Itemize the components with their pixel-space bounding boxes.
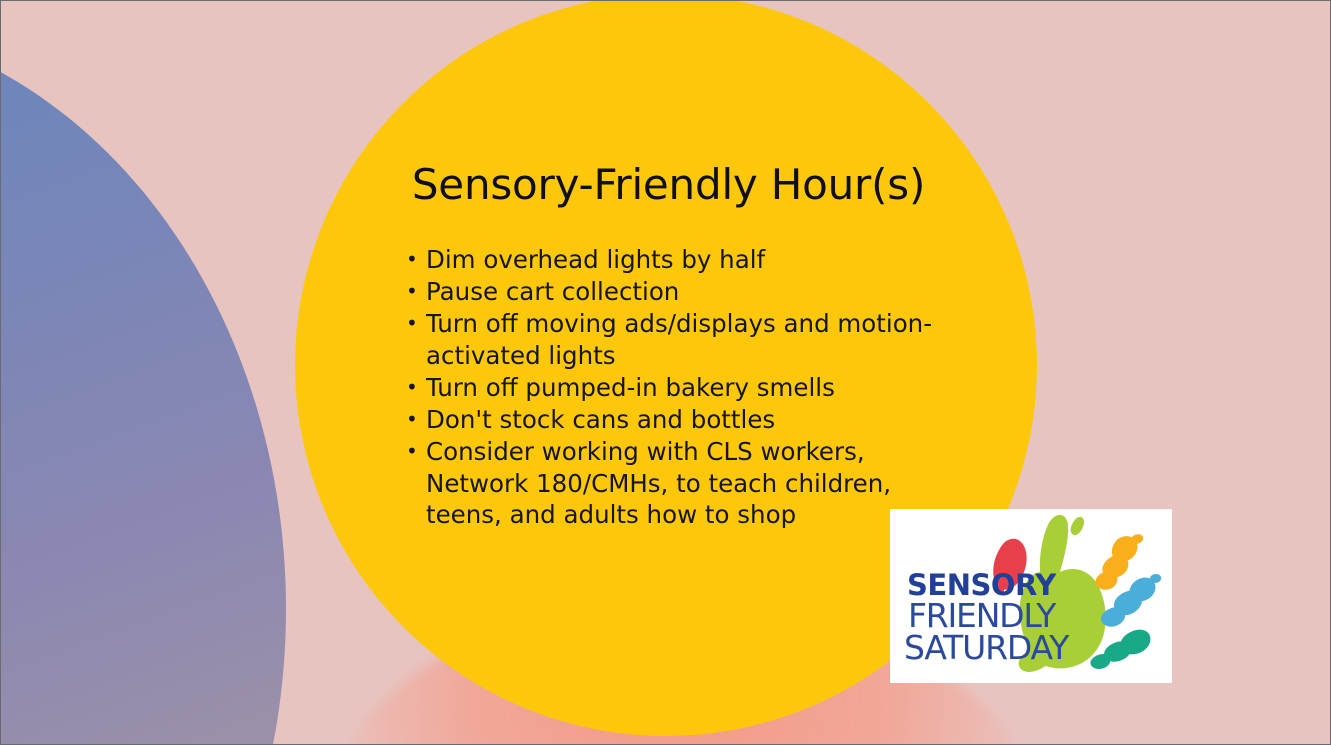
logo-line-3: SATURDAY (904, 628, 1070, 667)
bullet-list: Dim overhead lights by half Pause cart c… (404, 244, 964, 531)
list-item: Don't stock cans and bottles (404, 404, 964, 436)
page-title: Sensory-Friendly Hour(s) (301, 160, 1036, 210)
list-item: Pause cart collection (404, 276, 964, 308)
list-item: Turn off pumped-in bakery smells (404, 372, 964, 404)
list-item: Consider working with CLS workers, Netwo… (404, 436, 964, 531)
list-item: Turn off moving ads/displays and motion-… (404, 308, 964, 371)
slide-canvas: Sensory-Friendly Hour(s) Dim overhead li… (0, 0, 1331, 745)
logo-svg: SENSORY FRIENDLY SATURDAY (890, 509, 1172, 683)
slide-content: Sensory-Friendly Hour(s) Dim overhead li… (1, 1, 1330, 744)
list-item: Dim overhead lights by half (404, 244, 964, 276)
sensory-friendly-saturday-logo: SENSORY FRIENDLY SATURDAY (890, 509, 1172, 683)
